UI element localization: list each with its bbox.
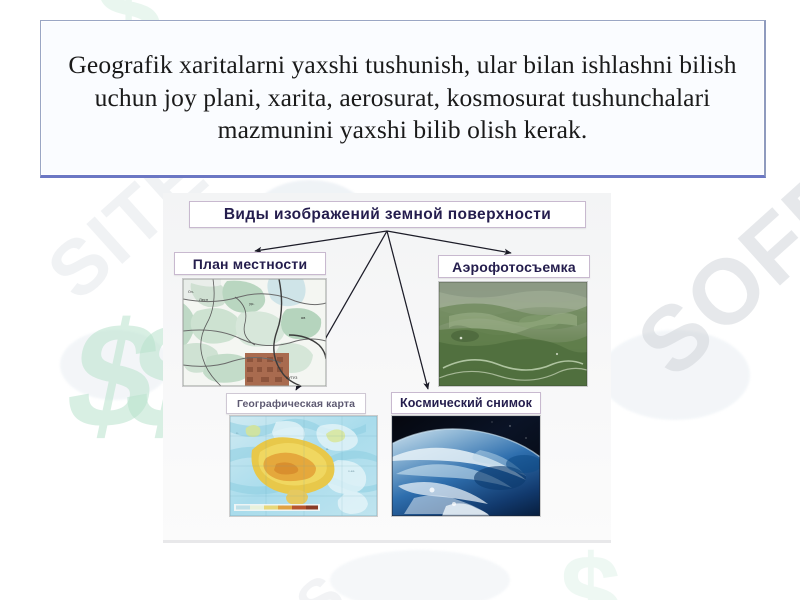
watermark-blob bbox=[600, 330, 750, 420]
watermark-blob bbox=[330, 550, 510, 600]
svg-text:Оз.: Оз. bbox=[188, 290, 194, 294]
svg-text:о.: о. bbox=[236, 431, 239, 435]
thumbnail-aerial-photograph bbox=[438, 281, 588, 387]
node-label-aero-text: Аэрофотосъемка bbox=[452, 259, 576, 275]
node-label-aero: Аэрофотосъемка bbox=[438, 255, 590, 278]
node-label-plan-text: План местности bbox=[193, 256, 308, 272]
node-label-space: Космический снимок bbox=[391, 392, 541, 414]
watermark-brand-right: SOFF bbox=[618, 150, 800, 398]
svg-text:м.: м. bbox=[326, 447, 329, 451]
lesson-text: Geografik xaritalarni yaxshi tushunish, … bbox=[57, 49, 748, 147]
diagram-panel: Виды изображений земной поверхности План… bbox=[163, 193, 611, 540]
node-label-geo-text: Географическая карта bbox=[237, 398, 355, 410]
diagram-title-node: Виды изображений земной поверхности bbox=[189, 201, 586, 228]
diagram-title-text: Виды изображений земной поверхности bbox=[224, 206, 551, 224]
thumbnail-earth-from-space bbox=[391, 415, 541, 517]
watermark-brand-bottom: S bbox=[283, 560, 360, 600]
svg-text:ов: ов bbox=[301, 316, 305, 320]
svg-text:о-ва: о-ва bbox=[348, 469, 355, 473]
svg-text:КУТУЗ: КУТУЗ bbox=[286, 376, 298, 380]
watermark-dollar-icon: $ bbox=[560, 540, 621, 600]
watermark-blob bbox=[60, 330, 170, 400]
node-label-plan: План местности bbox=[174, 252, 326, 275]
watermark-dollar-icon: $ bbox=[56, 300, 171, 450]
node-label-space-text: Космический снимок bbox=[400, 396, 532, 410]
lesson-text-card: Geografik xaritalarni yaxshi tushunish, … bbox=[40, 20, 766, 178]
earth-from-space-icon bbox=[392, 416, 540, 516]
thumbnail-topographic-site-plan: Оз. Лесн ур. ов КУТУЗ bbox=[182, 278, 327, 387]
topographic-plan-icon: Оз. Лесн ур. ов КУТУЗ bbox=[183, 279, 326, 386]
svg-text:ур.: ур. bbox=[249, 302, 255, 306]
aerial-photo-icon bbox=[439, 282, 587, 386]
thumbnail-physical-world-map: о. м. о-ва з. bbox=[229, 415, 378, 517]
node-label-geo: Географическая карта bbox=[226, 393, 366, 414]
diagram-bottom-strip bbox=[163, 540, 611, 543]
svg-text:Лесн: Лесн bbox=[199, 298, 209, 302]
physical-map-icon: о. м. о-ва з. bbox=[230, 416, 377, 516]
